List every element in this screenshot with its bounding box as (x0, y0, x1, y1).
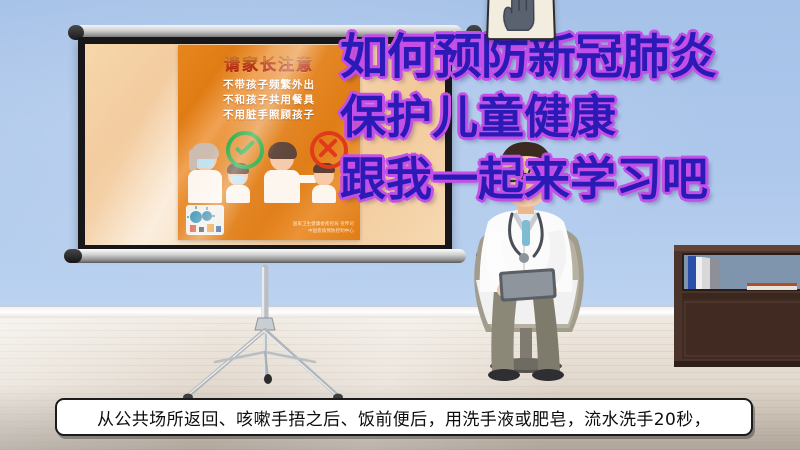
bottom-bar-cap-left (64, 249, 82, 263)
screen-bottom-bar (64, 249, 466, 263)
headline-line-1: 如何预防新冠肺炎 (340, 30, 792, 84)
headline-block: 如何预防新冠肺炎 保护儿童健康 跟我一起来学习吧 (340, 30, 792, 208)
subtitle-text: 从公共场所返回、咳嗽手捂之后、饭前便后，用洗手液或肥皂，流水洗手20秒， (97, 405, 711, 430)
headline-line-3: 跟我一起来学习吧 (340, 150, 792, 208)
health-poster: 请家长注意 不带孩子频繁外出 不和孩子共用餐具 不用脏手照顾孩子 (178, 45, 360, 240)
hand-glyph-icon (488, 0, 549, 34)
bookshelf (672, 243, 800, 368)
subtitle-bar: 从公共场所返回、咳嗽手捂之后、饭前便后，用洗手液或肥皂，流水洗手20秒， (55, 398, 753, 436)
headline-line-2: 保护儿童健康 (340, 88, 792, 146)
video-frame: 请家长注意 不带孩子频繁外出 不和孩子共用餐具 不用脏手照顾孩子 (0, 0, 800, 450)
poster-glare (178, 45, 360, 240)
hand-washing-icon (486, 0, 556, 40)
